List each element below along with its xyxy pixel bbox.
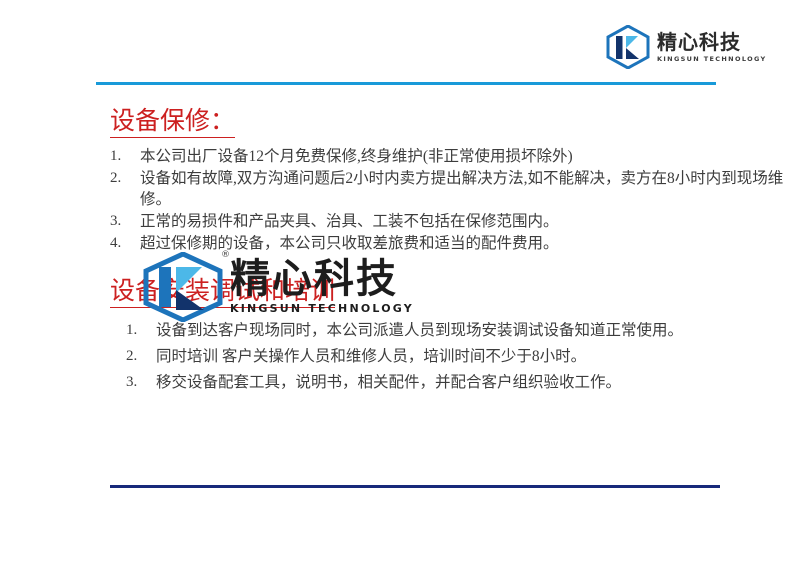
warranty-list: 1. 本公司出厂设备12个月免费保修,终身维护(非正常使用损坏除外) 2. 设备… — [110, 146, 790, 255]
list-item-text: 移交设备配套工具，说明书，相关配件，并配合客户组织验收工作。 — [156, 372, 796, 393]
slide-content: 设备保修： 1. 本公司出厂设备12个月免费保修,终身维护(非正常使用损坏除外)… — [0, 0, 800, 566]
list-item-number: 1. — [110, 146, 140, 167]
list-item-text: 设备如有故障,双方沟通问题后2小时内卖方提出解决方法,如不能解决，卖方在8小时内… — [140, 168, 790, 210]
list-item-text: 本公司出厂设备12个月免费保修,终身维护(非正常使用损坏除外) — [140, 146, 790, 167]
list-item: 2. 设备如有故障,双方沟通问题后2小时内卖方提出解决方法,如不能解决，卖方在8… — [110, 168, 790, 210]
list-item-number: 1. — [126, 320, 156, 341]
list-item-number: 4. — [110, 233, 140, 254]
list-item: 3. 移交设备配套工具，说明书，相关配件，并配合客户组织验收工作。 — [126, 372, 796, 393]
bottom-divider-rule — [110, 485, 720, 488]
section-heading-install: 设备安装调试和培训 — [110, 278, 335, 308]
list-item-text: 同时培训 客户关操作人员和维修人员，培训时间不少于8小时。 — [156, 346, 796, 367]
list-item-number: 2. — [126, 346, 156, 367]
list-item-text: 设备到达客户现场同时，本公司派遣人员到现场安装调试设备知道正常使用。 — [156, 320, 796, 341]
list-item: 4. 超过保修期的设备，本公司只收取差旅费和适当的配件费用。 — [110, 233, 790, 254]
list-item: 1. 设备到达客户现场同时，本公司派遣人员到现场安装调试设备知道正常使用。 — [126, 320, 796, 341]
list-item: 1. 本公司出厂设备12个月免费保修,终身维护(非正常使用损坏除外) — [110, 146, 790, 167]
list-item-text: 正常的易损件和产品夹具、治具、工装不包括在保修范围内。 — [140, 211, 790, 232]
install-list: 1. 设备到达客户现场同时，本公司派遣人员到现场安装调试设备知道正常使用。 2.… — [126, 320, 796, 398]
section-heading-warranty: 设备保修： — [110, 108, 235, 138]
list-item: 2. 同时培训 客户关操作人员和维修人员，培训时间不少于8小时。 — [126, 346, 796, 367]
list-item-number: 3. — [110, 211, 140, 232]
list-item-number: 3. — [126, 372, 156, 393]
list-item-number: 2. — [110, 168, 140, 189]
list-item: 3. 正常的易损件和产品夹具、治具、工装不包括在保修范围内。 — [110, 211, 790, 232]
list-item-text: 超过保修期的设备，本公司只收取差旅费和适当的配件费用。 — [140, 233, 790, 254]
